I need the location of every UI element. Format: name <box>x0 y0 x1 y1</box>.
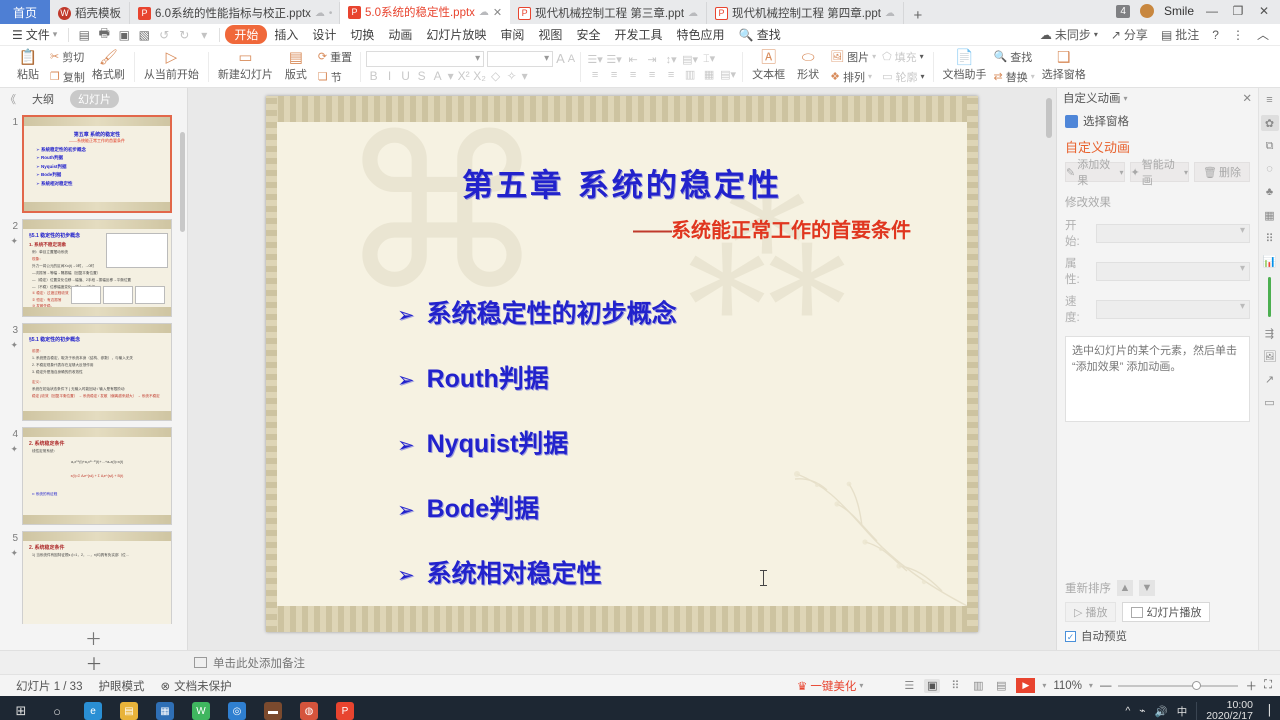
file-menu-label: 文件 <box>26 26 50 43</box>
decorative-band <box>23 428 171 437</box>
menu-item-design[interactable]: 设计 <box>305 25 343 44</box>
shapes-button[interactable]: ⬭ 形状 <box>789 51 827 82</box>
bullet-text: Nyquist判据 <box>427 424 569 460</box>
reset-icon: ⟳ <box>318 50 327 63</box>
slide-thumbnail-5[interactable]: 2. 系统稳定条件 1) 当系统件有因特征根s (i=1，2，…，n)均具有负实… <box>22 531 172 624</box>
bullet-text: Bode判据 <box>427 489 540 525</box>
thumbnail-row[interactable]: 3 ✦ §5.1 稳定性的初步概念 前提： 1. 系统是否稳定，取决于系统本身（… <box>0 320 187 424</box>
animation-hint-text: 选中幻灯片的某个元素，然后单击 “添加效果” 添加动画。 <box>1065 336 1250 422</box>
subscript-button[interactable]: X₂ <box>472 69 487 83</box>
subtitle-dash: —— <box>633 220 671 242</box>
font-name-input[interactable]: ▾ <box>366 51 484 67</box>
file-menu[interactable]: ☰ 文件 ▾ <box>6 26 63 43</box>
chart-icon[interactable]: 📊 <box>1261 253 1279 269</box>
save-icon[interactable]: ▤ <box>74 28 94 42</box>
list-row: ☰▾ ☰▾ ⇤ ⇥ ↕▾ ▤▾ ⌶▾ <box>586 52 737 66</box>
clock[interactable]: 10:00 2020/2/17 <box>1206 700 1253 720</box>
columns-button[interactable]: ▥ <box>681 68 699 81</box>
replace-button[interactable]: ⇄ 替换 ▾ <box>991 68 1038 86</box>
fill-icon: ⬠ <box>882 50 892 63</box>
cut-button[interactable]: ✂ 剪切 <box>47 48 88 66</box>
chevron-down-icon: ▾ <box>1119 168 1123 177</box>
chevron-down-icon: ▾ <box>859 681 863 690</box>
paste-label: 粘贴 <box>17 69 39 82</box>
wechat-icon[interactable]: W <box>184 696 218 720</box>
new-tab-button[interactable]: + <box>904 7 932 24</box>
thumb-heading: 2. 系统稳定条件 <box>29 440 171 447</box>
text-direction-button[interactable]: ▤▾ <box>681 53 699 66</box>
print-icon[interactable]: 🖶 <box>94 24 114 45</box>
help-button[interactable]: ? <box>1207 28 1224 42</box>
element-icon[interactable]: ⧉ <box>1261 138 1279 154</box>
share-icon: ↗ <box>1111 28 1121 42</box>
slide-thumbnail-2[interactable]: §5.1 稳定性的初步概念 1. 系统不稳定现象 例：单目立置摆动系统 现象： … <box>22 219 172 317</box>
align-text-button[interactable]: ⌶▾ <box>700 52 718 66</box>
form-icon[interactable]: ▭ <box>1261 394 1279 410</box>
select-pane-button[interactable]: ❑ 选择窗格 <box>1038 51 1090 82</box>
browser-icon[interactable]: ◎ <box>220 696 254 720</box>
slideshow-button[interactable]: 幻灯片播放 <box>1122 602 1210 622</box>
zoom-in-button[interactable]: ＋ <box>1245 678 1257 694</box>
window-count-badge[interactable]: 4 <box>1116 5 1130 18</box>
collapse-ribbon-button[interactable]: ︿ <box>1252 26 1274 43</box>
table-icon[interactable]: ▦ <box>1261 207 1279 223</box>
animation-star-icon: ✦ <box>4 548 18 559</box>
move-down-button[interactable]: ▼ <box>1139 580 1155 596</box>
document-protection-status[interactable]: ⊗ 文档未保护 <box>152 678 239 694</box>
play-button[interactable]: ▷ 播放 <box>1065 602 1116 622</box>
decorative-band <box>23 411 171 420</box>
clipboard-small-buttons: ✂ 剪切 ❐ 复制 <box>47 48 88 86</box>
slide-number: 1 <box>4 115 18 213</box>
menu-item-featured-apps[interactable]: 特色应用 <box>669 25 731 44</box>
thumbnail-scrollbar[interactable] <box>180 132 185 232</box>
bullet-text: Routh判据 <box>427 359 549 395</box>
thumb-line: —次振荡→等幅→隔振幅（回复平衡位置） <box>32 271 171 276</box>
add-effect-label: 添加效果 <box>1077 156 1117 188</box>
picture-button[interactable]: 🖼 图片 ▾ <box>827 48 879 66</box>
slide-thumbnail-4[interactable]: 2. 系统稳定条件 线性定常系统： a₀x⁽ⁿ⁾(t)+a₁x⁽ⁿ⁻¹⁾(t)+… <box>22 427 172 525</box>
edge-icon[interactable]: e <box>76 696 110 720</box>
doc-assistant-button[interactable]: 📄 文档助手 <box>939 51 991 82</box>
slideshow-icon <box>1131 607 1143 618</box>
style-small-buttons: ⬠ 填充 ▾ ▭ 轮廓 ▾ <box>879 48 927 86</box>
chevron-down-icon: ▾ <box>1094 30 1098 39</box>
redo-icon[interactable]: ↻ <box>174 28 194 42</box>
underline-button[interactable]: U <box>398 69 413 83</box>
folder-icon[interactable]: ▬ <box>256 696 290 720</box>
notes-placeholder-area[interactable]: 单击此处添加备注 <box>188 655 305 671</box>
font-size-input[interactable]: ▾ <box>487 51 553 67</box>
bullet-item[interactable]: ➢ Nyquist判据 <box>397 424 677 460</box>
speed-select[interactable] <box>1096 300 1250 319</box>
start-field-row: 开始: <box>1057 214 1258 252</box>
align-center-button[interactable]: ≡ <box>605 69 623 81</box>
slide-number: 5 ✦ <box>4 531 18 624</box>
thumb-line: 前提： <box>32 349 171 354</box>
chevron-down-icon[interactable]: ▾ <box>921 72 925 81</box>
slide-sorter-icon[interactable]: ⠿ <box>947 679 963 693</box>
section-icon: ❏ <box>318 70 328 83</box>
copy-icon: ❐ <box>50 70 60 83</box>
beautify-label: 一键美化 <box>810 678 856 694</box>
diagram-icon[interactable]: ⇶ <box>1261 325 1279 341</box>
zoom-out-button[interactable]: — <box>1100 680 1112 692</box>
network-icon[interactable]: ⌁ <box>1139 705 1145 717</box>
shrink-font-button[interactable]: A <box>568 53 575 65</box>
thumb-bullet: ➢ Bode判据 <box>36 172 170 178</box>
tab-file-1[interactable]: P 6.0系统的性能指标与校正.pptx ☁ • <box>130 2 340 24</box>
slide-title[interactable]: 第五章 系统的稳定性 <box>277 160 967 205</box>
ime-icon[interactable]: 中 <box>1177 704 1188 719</box>
animation-star-icon: ✦ <box>4 444 18 455</box>
slide-subtitle[interactable]: ——系统能正常工作的首要条件 <box>633 214 911 243</box>
text-cursor <box>763 570 764 586</box>
tab-file-3[interactable]: P 现代机械控制工程 第三章.ppt ☁ <box>510 2 707 24</box>
thumb-bullet: ➢ Nyquist判据 <box>36 164 170 170</box>
tab-file-2-active[interactable]: P 5.0系统的稳定性.pptx ☁ ✕ <box>340 0 510 24</box>
menu-bar-right: ☁ 未同步 ▾ ↗ 分享 ▤ 批注 ? ⋮ ︿ <box>1035 26 1274 43</box>
rail-scroll-indicator[interactable] <box>1268 277 1271 317</box>
avatar[interactable] <box>1140 4 1154 18</box>
property-field-row: 属性: <box>1057 252 1258 290</box>
clear-format-button[interactable]: ◇ <box>488 69 503 83</box>
watermark-icon[interactable]: ♣ <box>1261 184 1279 200</box>
store-icon[interactable]: ▦ <box>148 696 182 720</box>
reading-view-icon[interactable]: ▥ <box>970 679 986 693</box>
undo-icon[interactable]: ↺ <box>154 28 174 42</box>
justify-button[interactable]: ≡ <box>643 69 661 81</box>
paste-button[interactable]: 📋 粘贴 <box>9 51 47 82</box>
more-button[interactable]: ⋮ <box>1227 28 1249 42</box>
search-label: 查找 <box>757 28 781 42</box>
line-spacing-button[interactable]: ↕▾ <box>662 53 680 66</box>
font-color-button[interactable]: A <box>430 69 445 83</box>
outline-icon: ▭ <box>882 70 892 83</box>
thumb-line: 1. 系统是否稳定，取决于系统本身（结构、参数），与输入无关 <box>32 356 171 361</box>
export-icon[interactable]: ↗ <box>1261 371 1279 387</box>
section-button[interactable]: ❏ 节 <box>315 68 355 86</box>
tab-template[interactable]: W 稻壳模板 <box>50 2 130 24</box>
auto-preview-row[interactable]: ✓ 自动预览 <box>1057 626 1258 650</box>
align-left-button[interactable]: ≡ <box>586 69 604 81</box>
print-preview-icon[interactable]: ▧ <box>134 28 154 42</box>
arrange-label: 排列 <box>843 69 865 85</box>
replace-label: 替换 <box>1006 69 1028 85</box>
start-select[interactable] <box>1096 224 1250 243</box>
reorder-label: 重新排序 <box>1065 580 1111 596</box>
fill-label: 填充 <box>895 49 917 65</box>
drawing-small-buttons: 🖼 图片 ▾ ❖ 排列 ▾ <box>827 48 879 86</box>
bullet-item[interactable]: ➢ Routh判据 <box>397 359 677 395</box>
lock-icon: ⊗ <box>160 679 170 693</box>
menu-item-view[interactable]: 视图 <box>531 25 569 44</box>
superscript-button[interactable]: X² <box>456 69 471 83</box>
bullet-item[interactable]: ➢ 系统相对稳定性 <box>397 554 677 590</box>
zoom-slider[interactable] <box>1118 685 1238 687</box>
arrow-bullet-icon: ➢ <box>397 433 415 458</box>
cloud-icon: ☁ <box>688 8 698 19</box>
slides-small-buttons: ⟳ 重置 ❏ 节 <box>315 48 355 86</box>
animation-star-icon: ✦ <box>4 340 18 351</box>
thumb-line: 线性定常系统： <box>32 449 171 454</box>
cloud-icon: ☁ <box>315 8 325 19</box>
tab-label: 5.0系统的稳定性.pptx <box>365 4 475 20</box>
share-button[interactable]: ↗ 分享 <box>1106 26 1153 43</box>
tab-label: 现代机械控制工程 第四章.ppt <box>732 5 881 21</box>
wps-icon[interactable]: P <box>328 696 362 720</box>
fit-to-window-button[interactable]: ⛶ <box>1264 679 1272 692</box>
arrange-button[interactable]: ❖ 排列 ▾ <box>827 68 879 86</box>
auto-preview-checkbox[interactable]: ✓ <box>1065 631 1076 642</box>
reset-button[interactable]: ⟳ 重置 <box>315 48 355 66</box>
eye-protection-mode[interactable]: 护眼模式 <box>90 678 152 694</box>
bullet-list-button[interactable]: ☰▾ <box>586 53 604 66</box>
outline-view-icon[interactable]: ☰ <box>901 679 917 693</box>
ribbon-toolbar: 📋 粘贴 ✂ 剪切 ❐ 复制 🖌 格式刷 ▷ 从当前开始 ▭ 新建幻灯片 <box>0 46 1280 88</box>
decorative-border-bottom <box>266 606 978 632</box>
replace-icon: ⇄ <box>994 70 1003 83</box>
start-icon[interactable]: ⊞ <box>4 696 38 720</box>
show-desktop-button[interactable]: ▕ <box>1262 705 1270 717</box>
select-pane-row[interactable]: 选择窗格 <box>1057 108 1258 134</box>
ppt-file-icon: P <box>138 7 151 20</box>
select-pane-icon <box>1065 115 1078 128</box>
picture-icon[interactable]: 🖼 <box>1261 348 1279 364</box>
collapse-panel-button[interactable]: 《 <box>5 91 16 107</box>
trash-icon: 🗑 <box>1203 166 1217 179</box>
comment-icon: ▤ <box>1161 28 1172 42</box>
fill-button[interactable]: ⬠ 填充 ▾ <box>879 48 927 66</box>
window-tab-bar: 首页 W 稻壳模板 P 6.0系统的性能指标与校正.pptx ☁ • P 5.0… <box>0 0 1280 24</box>
panel-spacer <box>1057 422 1258 576</box>
menu-item-transition[interactable]: 切换 <box>343 25 381 44</box>
move-up-button[interactable]: ▲ <box>1117 580 1133 596</box>
beautify-icon: ♛ <box>797 679 807 693</box>
close-icon[interactable]: ✕ <box>493 6 502 19</box>
new-slide-label: 新建幻灯片 <box>218 69 273 82</box>
custom-animation-panel: 自定义动画 ▾ ✕ 选择窗格 自定义动画 ✎ 添加效果 ▾ ✦ 智能动画 ▾ 🗑… <box>1056 88 1258 650</box>
numbered-list-button[interactable]: ☰▾ <box>605 53 623 66</box>
auto-preview-label: 自动预览 <box>1081 628 1127 644</box>
system-tray: ^ ⌁ 🔊 中 10:00 2020/2/17 ▕ <box>1125 700 1276 720</box>
thumbnail-list[interactable]: 1 第五章 系统的稳定性 ——系统能正常工作的首要条件 ➢ 系统稳定性的初步概念… <box>0 110 187 624</box>
cloud-sync-icon: ☁ <box>1040 28 1052 42</box>
chevron-down-icon[interactable]: ▾ <box>920 52 924 61</box>
thumbnail-row[interactable]: 4 ✦ 2. 系统稳定条件 线性定常系统： a₀x⁽ⁿ⁾(t)+a₁x⁽ⁿ⁻¹⁾… <box>0 424 187 528</box>
zoom-slider-knob[interactable] <box>1192 681 1201 690</box>
canvas-scrollbar[interactable] <box>1046 98 1052 138</box>
animation-star-icon: ✦ <box>4 236 18 247</box>
add-slide-button[interactable]: ＋ <box>0 624 187 650</box>
thumb-line: 3. 稳定外是指自身确的的收敛性 <box>32 370 171 375</box>
strikethrough-button[interactable]: S <box>414 69 429 83</box>
ppt-file-icon: P <box>518 7 531 20</box>
notes-placeholder: 单击此处添加备注 <box>213 655 305 671</box>
layout-button[interactable]: ▤ 版式 <box>277 51 315 82</box>
thumb-line: 1) 当系统件有因特征根s (i=1，2，…，n)均具有负实部（位… <box>32 553 171 558</box>
paragraph-settings-button[interactable]: ▤▾ <box>719 68 737 81</box>
thumb-figure <box>106 233 168 268</box>
bold-button[interactable]: B <box>366 69 381 83</box>
from-current-slide-button[interactable]: ▷ 从当前开始 <box>140 51 203 82</box>
comment-button[interactable]: ▤ 批注 <box>1156 26 1204 43</box>
distribute-button[interactable]: ≡ <box>662 69 680 81</box>
menu-item-animation[interactable]: 动画 <box>381 25 419 44</box>
panel-title: 自定义动画 <box>1063 90 1121 106</box>
close-window-button[interactable]: ✕ <box>1256 4 1272 18</box>
align-right-button[interactable]: ≡ <box>624 69 642 81</box>
notes-icon <box>194 657 207 668</box>
thumbnail-row[interactable]: 1 第五章 系统的稳定性 ——系统能正常工作的首要条件 ➢ 系统稳定性的初步概念… <box>0 112 187 216</box>
decorative-band <box>24 117 170 126</box>
paragraph-controls: ☰▾ ☰▾ ⇤ ⇥ ↕▾ ▤▾ ⌶▾ ≡ ≡ ≡ ≡ ≡ ▥ ▦ ▤▾ <box>586 52 737 81</box>
explorer-icon[interactable]: ▤ <box>112 696 146 720</box>
menu-item-start[interactable]: 开始 <box>225 25 267 44</box>
chevron-down-icon[interactable]: ▾ <box>520 69 529 83</box>
decrease-indent-button[interactable]: ⇤ <box>624 53 642 66</box>
chevron-down-icon[interactable]: ▾ <box>1042 681 1046 690</box>
copy-button[interactable]: ❐ 复制 <box>47 68 88 86</box>
grid-icon[interactable]: ⠿ <box>1261 230 1279 246</box>
tray-expand-icon[interactable]: ^ <box>1125 705 1130 717</box>
play-circle-icon: ▷ <box>166 51 178 69</box>
tab-slides[interactable]: 幻灯片 <box>70 90 119 108</box>
tab-outline[interactable]: 大纲 <box>24 90 62 108</box>
chevron-down-icon[interactable]: ▾ <box>1031 72 1035 81</box>
bullet-item[interactable]: ➢ 系统稳定性的初步概念 <box>397 294 677 330</box>
grow-font-button[interactable]: A <box>556 51 565 66</box>
decorative-band <box>23 324 171 333</box>
italic-button[interactable]: I <box>382 69 397 83</box>
slide-number: 3 ✦ <box>4 323 18 421</box>
select-pane-icon: ❑ <box>1057 51 1070 69</box>
play-icon: ▷ <box>1074 606 1082 619</box>
format-painter-label: 格式刷 <box>92 69 125 82</box>
ribbon-group-tools: 📄 文档助手 🔍 查找 ⇄ 替换 ▾ ❑ 选择窗格 <box>934 46 1095 88</box>
chevron-down-icon[interactable]: ▾ <box>446 69 455 83</box>
chevron-down-icon: ▾ <box>1184 168 1188 177</box>
thumb-figure <box>71 286 101 304</box>
arrow-bullet-icon: ➢ <box>397 498 415 523</box>
textbox-button[interactable]: 🄰 文本框 <box>748 51 789 82</box>
tool-rail: ≡ ✿ ⧉ ◌ ♣ ▦ ⠿ 📊 ⇶ 🖼 ↗ ▭ <box>1258 88 1280 650</box>
window-controls: 4 Smile — ❐ ✕ <box>1116 0 1280 24</box>
tab-file-4[interactable]: P 现代机械控制工程 第四章.ppt ☁ <box>707 2 904 24</box>
find-button[interactable]: 🔍 查找 <box>991 48 1038 66</box>
picture-label: 图片 <box>847 49 869 65</box>
cloud-sync-button[interactable]: ☁ 未同步 ▾ <box>1035 26 1103 43</box>
highlight-button[interactable]: ✧ <box>504 69 519 83</box>
thumbnail-row[interactable]: 5 ✦ 2. 系统稳定条件 1) 当系统件有因特征根s (i=1，2，…，n)均… <box>0 528 187 624</box>
chevron-down-icon[interactable]: ▾ <box>872 52 876 61</box>
save-as-icon[interactable]: ▣ <box>114 28 134 42</box>
font-row: ▾ ▾ A A <box>366 51 575 67</box>
shapes-label: 形状 <box>797 69 819 82</box>
volume-icon[interactable]: 🔊 <box>1155 705 1168 718</box>
chevron-down-icon[interactable]: ▾ <box>868 72 872 81</box>
shapes-icon: ⬭ <box>802 51 815 69</box>
thumb-line: x: 系统的有征程 <box>32 492 171 497</box>
one-click-beautify-button[interactable]: ♛ 一键美化 ▾ <box>797 678 863 694</box>
design-idea-icon[interactable]: ✿ <box>1261 115 1279 131</box>
shape-icon[interactable]: ◌ <box>1261 161 1279 177</box>
menu-item-security[interactable]: 安全 <box>569 25 607 44</box>
customize-toolbar-icon[interactable]: ▾ <box>194 28 214 42</box>
animation-buttons: ✎ 添加效果 ▾ ✦ 智能动画 ▾ 🗑 删除 <box>1057 162 1258 192</box>
thumbnail-row[interactable]: 2 ✦ §5.1 稳定性的初步概念 1. 系统不稳定现象 例：单目立置摆动系统 … <box>0 216 187 320</box>
menu-bar: ☰ 文件 ▾ ▤ 🖶 ▣ ▧ ↺ ↻ ▾ 开始 插入 设计 切换 动画 幻灯片放… <box>0 24 1280 46</box>
plum-branch-decoration-icon <box>677 386 967 606</box>
user-name[interactable]: Smile <box>1164 4 1194 18</box>
outline-label: 轮廓 <box>896 69 918 85</box>
search-icon[interactable]: ○ <box>40 696 74 720</box>
format-painter-button[interactable]: 🖌 格式刷 <box>88 51 129 82</box>
new-slide-icon: ▭ <box>238 51 252 69</box>
slide-bullet-list[interactable]: ➢ 系统稳定性的初步概念 ➢ Routh判据 ➢ Nyquist判据 ➢ Bod… <box>397 294 677 606</box>
panel-tabs: 《 大纲 幻灯片 <box>0 88 187 110</box>
search-icon: 🔍 <box>994 50 1008 63</box>
add-slide-button-notes[interactable]: ＋ <box>0 650 188 675</box>
format-painter-icon: 🖌 <box>99 51 118 69</box>
notes-view-icon[interactable]: ▤ <box>993 679 1009 693</box>
chevron-down-icon[interactable]: ▾ <box>1089 681 1093 690</box>
smart-animation-button[interactable]: ✦ 智能动画 ▾ <box>1130 162 1190 182</box>
cloud-icon: ☁ <box>885 8 895 19</box>
property-select[interactable] <box>1096 262 1250 281</box>
smartart-button[interactable]: ▦ <box>700 68 718 81</box>
tab-label: 稻壳模板 <box>75 5 121 21</box>
subtitle-text: 系统能正常工作的首要条件 <box>671 220 911 242</box>
outline-button[interactable]: ▭ 轮廓 ▾ <box>879 68 927 86</box>
tab-label: 现代机械控制工程 第三章.ppt <box>535 5 684 21</box>
home-tab[interactable]: 首页 <box>0 0 50 24</box>
slide-canvas[interactable]: ⌘ ⁂ <box>266 96 978 632</box>
smart-animation-label: 智能动画 <box>1142 156 1182 188</box>
chrome-icon[interactable]: ◍ <box>292 696 326 720</box>
speed-label: 速度: <box>1065 293 1091 325</box>
thumb-bullet: ➢ 系统稳定性的初步概念 <box>36 147 170 153</box>
decorative-border-top <box>266 96 978 122</box>
menu-item-review[interactable]: 审阅 <box>493 25 531 44</box>
zoom-level[interactable]: 110% <box>1053 680 1082 692</box>
minimize-button[interactable]: — <box>1204 4 1220 18</box>
normal-view-icon[interactable]: ▣ <box>924 679 940 693</box>
add-effect-button[interactable]: ✎ 添加效果 ▾ <box>1065 162 1125 182</box>
menu-item-devtools[interactable]: 开发工具 <box>607 25 669 44</box>
maximize-button[interactable]: ❐ <box>1230 4 1246 18</box>
start-slideshow-button[interactable]: ▶ <box>1016 678 1035 693</box>
slide-thumbnail-3[interactable]: §5.1 稳定性的初步概念 前提： 1. 系统是否稳定，取决于系统本身（结构、参… <box>22 323 172 421</box>
slide-thumbnail-1[interactable]: 第五章 系统的稳定性 ——系统能正常工作的首要条件 ➢ 系统稳定性的初步概念 ➢… <box>22 115 172 213</box>
layout-icon: ▤ <box>289 51 303 69</box>
divider <box>219 28 220 42</box>
delete-effect-button[interactable]: 🗑 删除 <box>1194 162 1250 182</box>
rail-handle-icon[interactable]: ≡ <box>1261 92 1279 108</box>
new-slide-button[interactable]: ▭ 新建幻灯片 <box>214 51 277 82</box>
increase-indent-button[interactable]: ⇥ <box>643 53 661 66</box>
magic-icon: ✦ <box>1131 166 1140 179</box>
close-panel-button[interactable]: ✕ <box>1242 91 1252 105</box>
thumb-heading: 2. 系统稳定条件 <box>29 544 171 551</box>
cut-label: 剪切 <box>62 49 84 65</box>
find-label: 查找 <box>1010 49 1032 65</box>
menu-item-insert[interactable]: 插入 <box>267 25 305 44</box>
bullet-item[interactable]: ➢ Bode判据 <box>397 489 677 525</box>
menu-item-slideshow[interactable]: 幻灯片放映 <box>419 25 493 44</box>
chevron-down-icon[interactable]: ▾ <box>1124 94 1128 103</box>
menu-item-search[interactable]: 🔍 查找 <box>731 25 787 44</box>
